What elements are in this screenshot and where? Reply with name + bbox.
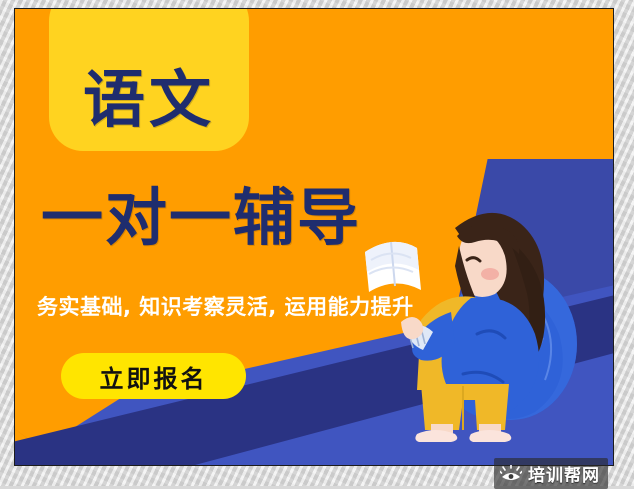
sunburst-eye-icon bbox=[500, 465, 522, 483]
page-backdrop: 语文 一对一辅导 务实基础, 知识考察灵活, 运用能力提升 立即报名 bbox=[0, 0, 634, 486]
site-watermark: 培训帮网 bbox=[494, 458, 608, 489]
watermark-text: 培训帮网 bbox=[528, 461, 600, 486]
subject-badge-label: 语文 bbox=[83, 69, 215, 131]
page-title: 一对一辅导 bbox=[41, 187, 361, 249]
girl-reading-book-illustration bbox=[359, 194, 589, 449]
banner-subtitle: 务实基础, 知识考察灵活, 运用能力提升 bbox=[37, 295, 414, 320]
subject-badge: 语文 bbox=[49, 8, 249, 151]
enroll-now-button[interactable]: 立即报名 bbox=[61, 353, 246, 399]
yellow-corner-wedge-shape bbox=[353, 9, 613, 259]
course-promo-banner: 语文 一对一辅导 务实基础, 知识考察灵活, 运用能力提升 立即报名 bbox=[14, 8, 614, 466]
navy-wall-shape bbox=[423, 159, 613, 466]
